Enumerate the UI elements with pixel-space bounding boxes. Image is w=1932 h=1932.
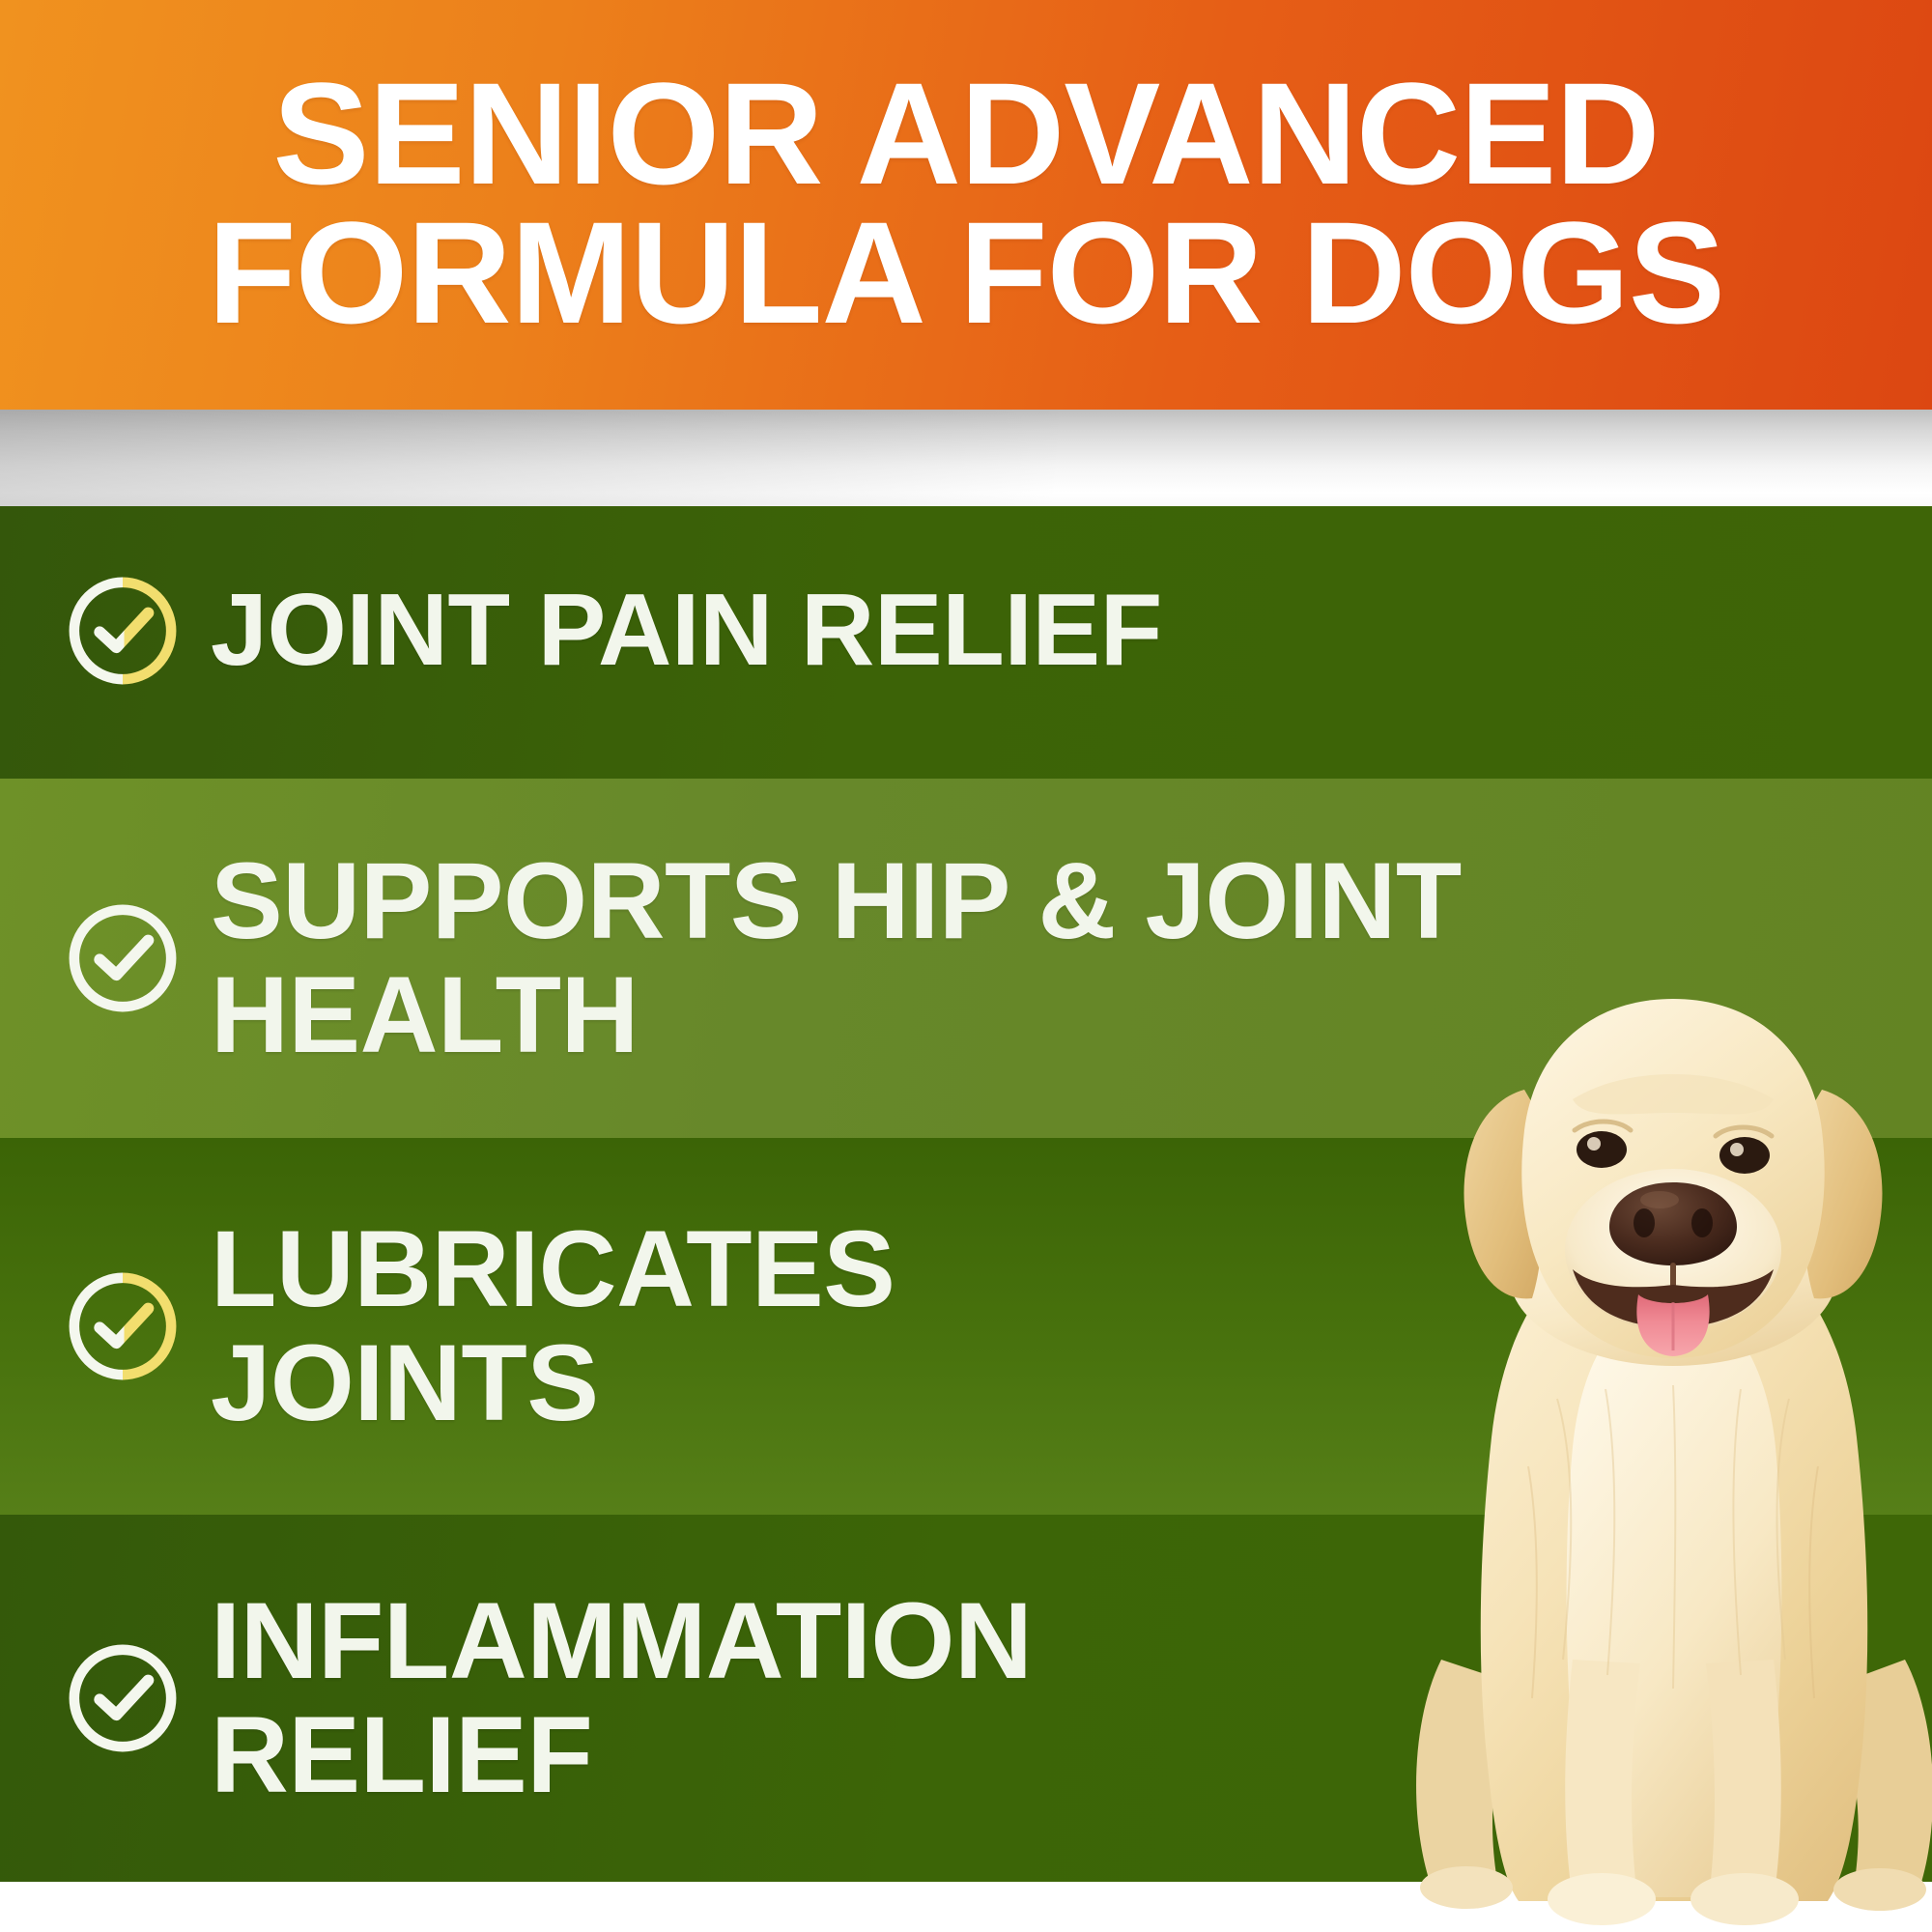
feature-label: JOINT PAIN RELIEF xyxy=(211,577,1162,684)
header-title-line-1: SENIOR ADVANCED xyxy=(272,64,1659,203)
feature-content: LUBRICATES JOINTS xyxy=(0,1138,1932,1515)
feature-label: SUPPORTS HIP & JOINT HEALTH xyxy=(211,844,1631,1071)
feature-row-joint-pain-relief: JOINT PAIN RELIEF xyxy=(0,483,1932,779)
check-circle-icon xyxy=(50,1626,195,1771)
check-circle-icon xyxy=(50,1254,195,1399)
header-text-block: SENIOR ADVANCED FORMULA FOR DOGS xyxy=(0,0,1932,417)
header-banner: SENIOR ADVANCED FORMULA FOR DOGS xyxy=(0,0,1932,417)
separator-shade xyxy=(0,410,1932,506)
check-circle-icon xyxy=(50,558,195,703)
feature-row-inflammation-relief: INFLAMMATION RELIEF xyxy=(0,1515,1932,1882)
check-circle-icon xyxy=(50,886,195,1031)
product-feature-banner: SENIOR ADVANCED FORMULA FOR DOGS xyxy=(0,0,1932,1932)
feature-label: LUBRICATES JOINTS xyxy=(211,1212,1225,1439)
bottom-white-strip xyxy=(0,1882,1932,1932)
header-separator-band xyxy=(0,410,1932,506)
feature-content: INFLAMMATION RELIEF xyxy=(0,1515,1932,1882)
feature-row-lubricates-joints: LUBRICATES JOINTS xyxy=(0,1138,1932,1515)
feature-content: SUPPORTS HIP & JOINT HEALTH xyxy=(0,779,1932,1138)
feature-label: INFLAMMATION RELIEF xyxy=(211,1584,1273,1811)
feature-content: JOINT PAIN RELIEF xyxy=(0,483,1932,779)
feature-row-supports-hip-and-joint-health: SUPPORTS HIP & JOINT HEALTH xyxy=(0,779,1932,1138)
header-title-line-2: FORMULA FOR DOGS xyxy=(208,203,1724,342)
